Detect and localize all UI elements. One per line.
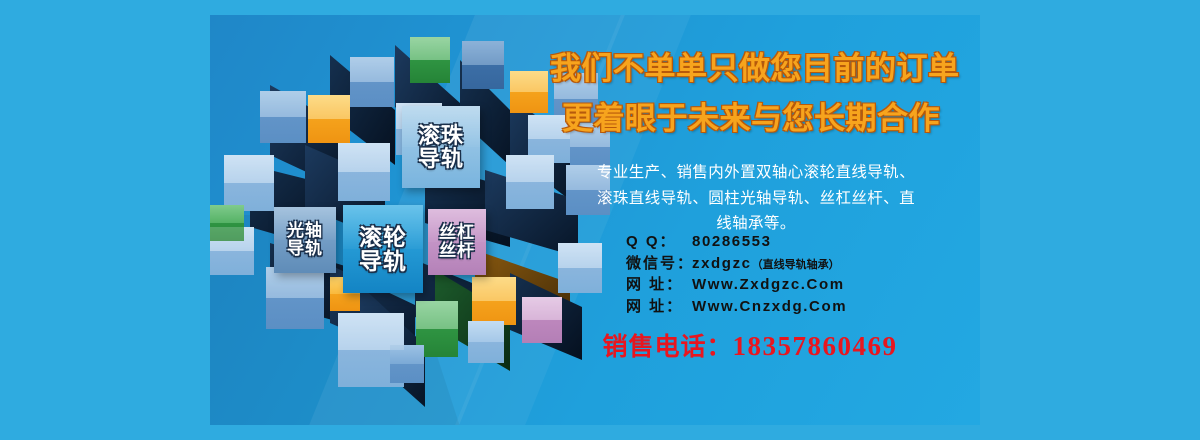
contact-value-website-1[interactable]: Www.Zxdgzc.Com xyxy=(692,276,845,293)
product-label-line2: 导轨 xyxy=(359,249,407,273)
contact-value-website-2[interactable]: Www.Cnzxdg.Com xyxy=(692,298,847,315)
description-line1: 专业生产、销售内外置双轴心滚轮直线导轨、 xyxy=(546,160,966,186)
description-line2: 滚珠直线导轨、圆柱光轴导轨、丝杠丝杆、直 xyxy=(546,186,966,212)
contact-label-website-2: 网 址： xyxy=(626,295,692,316)
product-label-gunzhu-daogui: 滚珠 导轨 xyxy=(402,106,480,188)
contact-row-qq: Q Q： 80286553 xyxy=(626,230,847,252)
product-label-line2: 导轨 xyxy=(287,240,323,258)
contact-row-website-1: 网 址： Www.Zxdgzc.Com xyxy=(626,273,847,295)
product-label-sigang-sigan: 丝杠 丝杆 xyxy=(428,209,486,275)
contact-label-website-1: 网 址： xyxy=(626,273,692,294)
contact-value-qq: 80286553 xyxy=(692,233,772,250)
sales-phone-number: 18357860469 xyxy=(733,331,898,361)
sales-phone-label: 销售电话： xyxy=(602,333,732,361)
sales-phone: 销售电话：18357860469 xyxy=(540,327,960,363)
banner-panel: 滚珠 导轨 光轴 导轨 滚轮 导轨 丝杠 丝杆 我们不单单只做您目前的订单 xyxy=(210,15,980,425)
description-text: 专业生产、销售内外置双轴心滚轮直线导轨、 滚珠直线导轨、圆柱光轴导轨、丝杠丝杆、… xyxy=(546,160,966,237)
contact-label-wechat: 微信号： xyxy=(626,252,692,273)
contact-note-wechat: （直线导轨轴承） xyxy=(752,256,840,272)
product-label-gunlun-daogui: 滚轮 导轨 xyxy=(343,205,423,293)
contact-row-wechat: 微信号： zxdgzc （直线导轨轴承） xyxy=(626,252,847,274)
banner-content: 我们不单单只做您目前的订单 更着眼于未来与您长期合作 专业生产、销售内外置双轴心… xyxy=(540,15,980,425)
contact-row-website-2: 网 址： Www.Cnzxdg.Com xyxy=(626,295,847,317)
product-label-line2: 导轨 xyxy=(418,147,464,170)
headline-line1: 我们不单单只做您目前的订单 xyxy=(550,49,960,90)
product-label-line2: 丝杆 xyxy=(439,242,475,260)
product-label-line1: 丝杠 xyxy=(439,224,475,242)
promo-banner: 滚珠 导轨 光轴 导轨 滚轮 导轨 丝杠 丝杆 我们不单单只做您目前的订单 xyxy=(0,0,1200,440)
product-label-line1: 滚轮 xyxy=(359,225,407,249)
headline-line2: 更着眼于未来与您长期合作 xyxy=(562,99,940,140)
product-label-line1: 光轴 xyxy=(287,222,323,240)
contact-value-wechat: zxdgzc xyxy=(692,255,752,272)
product-label-guangzhou-daogui: 光轴 导轨 xyxy=(274,207,336,273)
contact-label-qq: Q Q： xyxy=(626,230,692,251)
contact-info: Q Q： 80286553 微信号： zxdgzc （直线导轨轴承） 网 址： … xyxy=(626,230,847,316)
product-label-line1: 滚珠 xyxy=(418,124,464,147)
